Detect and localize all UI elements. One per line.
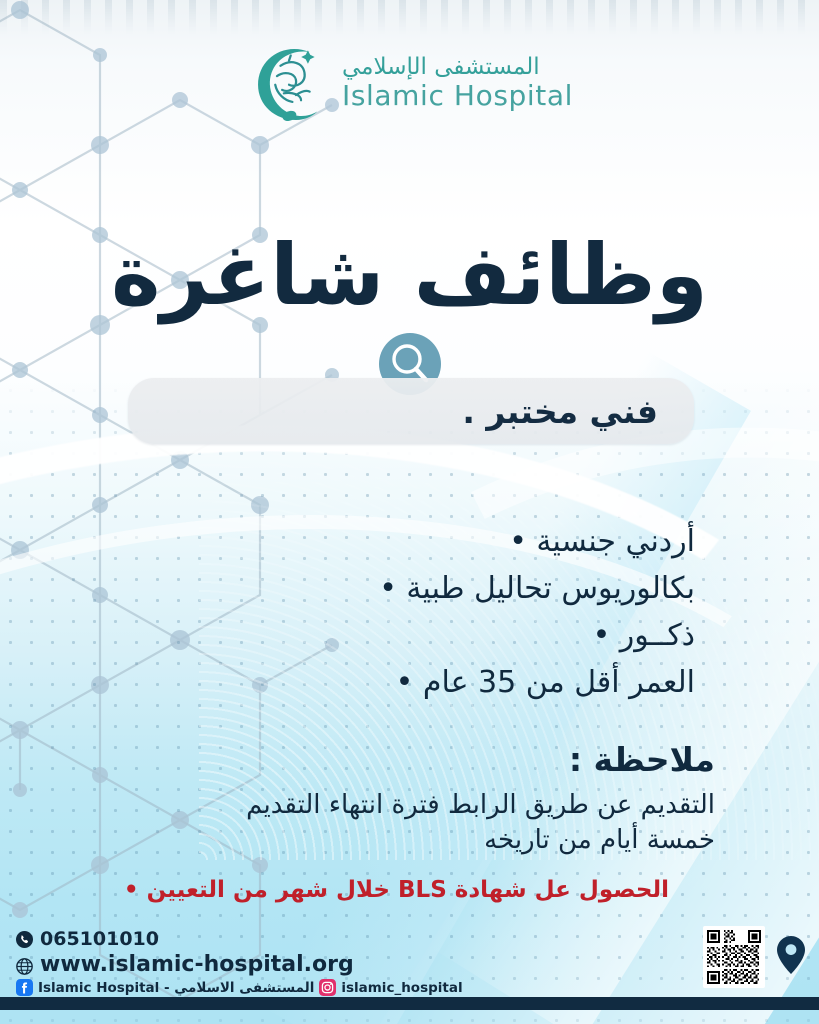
note-heading: ملاحظة : [0,740,819,779]
footer: 065101010 www.islamic-hospital.org [0,924,819,1010]
globe-icon [16,956,33,973]
location-pin-icon[interactable] [777,936,805,978]
phone-icon [16,931,33,948]
note-line-2: خمسة أيام من تاريخه [60,823,715,858]
website-row[interactable]: www.islamic-hospital.org [16,952,463,977]
islamic-hospital-crescent-calligraphy-logo [246,40,332,126]
bls-requirement-alert: الحصول عل شهادة BLS خلال شهر من التعيين … [0,877,819,903]
phone-row[interactable]: 065101010 [16,928,463,950]
facebook-handle: المستشفى الاسلامي - Islamic Hospital [38,980,314,996]
page-title: وظائف شاغرة [0,233,819,317]
instagram-icon [319,979,336,996]
logo-name-arabic: المستشفى الإسلامي [342,56,540,79]
social-row[interactable]: المستشفى الاسلامي - Islamic Hospital isl… [16,979,463,996]
requirements-list: أردني جنسية • بكالوريوس تحاليل طبية • ذك… [0,518,819,706]
requirement-item: ذكــور • [60,612,695,659]
note-line-1: التقديم عن طريق الرابط فترة انتهاء التقد… [60,788,715,823]
instagram-handle: islamic_hospital [341,980,462,996]
qr-area[interactable] [703,926,805,988]
job-title: فني مختبر . [128,392,658,431]
brand-logo: المستشفى الإسلامي Islamic Hospital [0,40,819,126]
phone-number: 065101010 [40,928,159,950]
bottom-bar [0,997,819,1010]
facebook-icon [16,979,33,996]
job-vacancy-poster: المستشفى الإسلامي Islamic Hospital وظائف… [0,0,819,1024]
requirement-item: بكالوريوس تحاليل طبية • [60,565,695,612]
note-body: التقديم عن طريق الرابط فترة انتهاء التقد… [0,788,819,859]
requirement-item: أردني جنسية • [60,518,695,565]
requirement-item: العمر أقل من 35 عام • [60,659,695,706]
contact-block: 065101010 www.islamic-hospital.org [16,928,463,996]
website-url: www.islamic-hospital.org [40,952,354,977]
logo-name-english: Islamic Hospital [342,82,573,110]
job-title-panel: فني مختبر . [128,378,694,444]
qr-code[interactable] [703,926,765,988]
